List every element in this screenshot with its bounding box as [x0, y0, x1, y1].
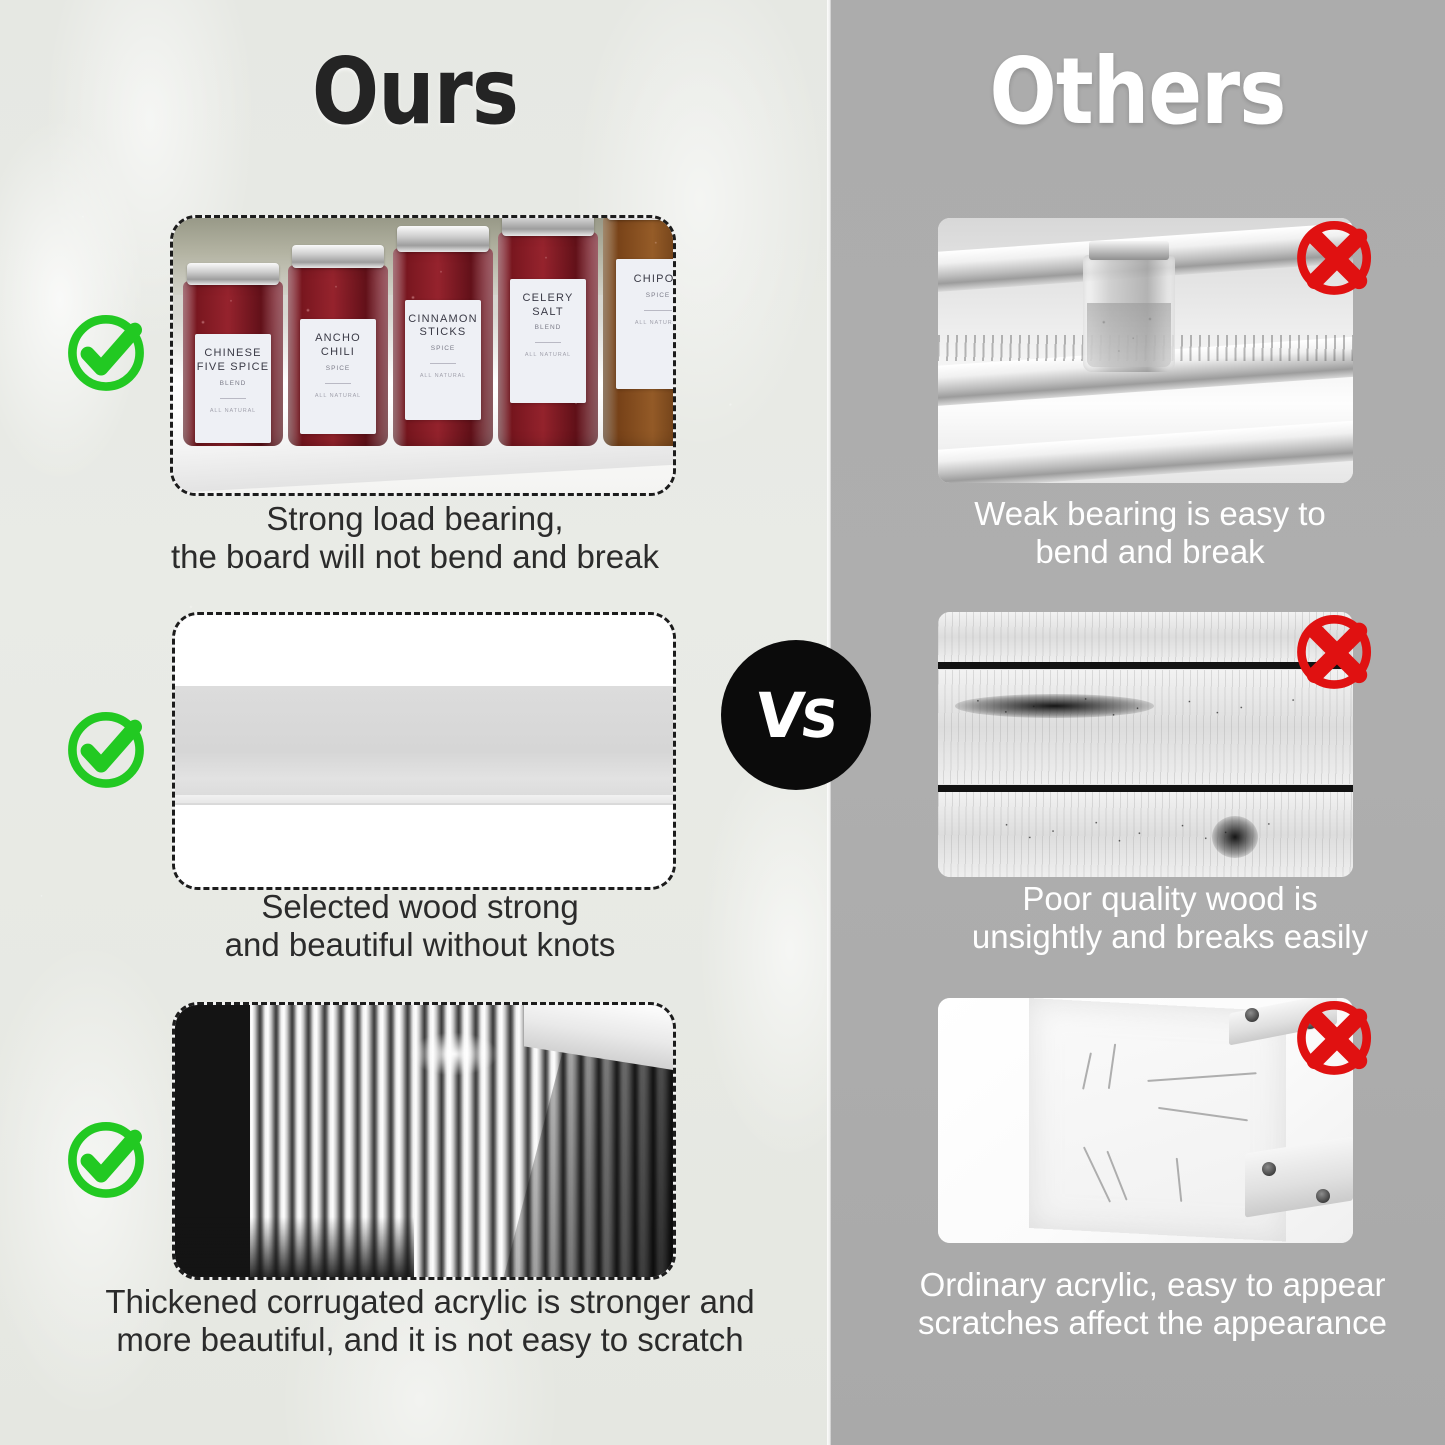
jar-label-line2: FIVE SPICE	[197, 361, 270, 373]
spice-jar: CHINESEFIVE SPICE BLEND ALL NATURAL	[183, 281, 283, 446]
scratch-line	[1176, 1158, 1183, 1202]
jars-scene: CHINESEFIVE SPICE BLEND ALL NATURAL ANCH…	[173, 218, 673, 493]
caption-line: Poor quality wood is	[920, 880, 1420, 918]
screw-icon	[1262, 1162, 1276, 1176]
page-title-others: Others	[873, 46, 1402, 138]
jar-label-footer: ALL NATURAL	[525, 352, 571, 358]
light-glint	[409, 1032, 499, 1076]
plank-gap	[938, 785, 1353, 792]
versus-s: S	[798, 690, 839, 750]
versus-badge: VS	[721, 640, 871, 790]
check-circle-icon	[58, 303, 154, 399]
scratch-line	[1108, 1044, 1116, 1090]
jar-label: ANCHOCHILI SPICE ALL NATURAL	[300, 319, 376, 434]
jar-label-line2: SALT	[532, 306, 564, 318]
caption-line: scratches affect the appearance	[880, 1304, 1425, 1342]
spice-jar: CINNAMONSTICKS SPICE ALL NATURAL	[393, 248, 493, 446]
jar-label-line1: ANCHO	[315, 332, 361, 344]
caption-line: and beautiful without knots	[120, 926, 720, 964]
jar-label-footer: ALL NATURAL	[315, 393, 361, 399]
jar-label-sub: SPICE	[431, 345, 456, 352]
x-circle-icon	[1288, 988, 1384, 1084]
jar-label: CINNAMONSTICKS SPICE ALL NATURAL	[405, 300, 481, 420]
caption-line: Thickened corrugated acrylic is stronger…	[50, 1283, 810, 1321]
comparison-infographic: Ours Others CHINESEFIVE SPICE BLEND ALL …	[0, 0, 1445, 1445]
jar-label-rule	[220, 398, 246, 399]
spice-jar: CHIPOT SPICE ALL NATURAL	[603, 215, 676, 446]
jar-label-line1: CHIPOT	[634, 273, 676, 285]
jar-label-line1: CELERY	[522, 292, 573, 304]
clean-wood-board-photo	[172, 612, 676, 890]
caption-line: Strong load bearing,	[90, 500, 740, 538]
spice-jar: CELERYSALT BLEND ALL NATURAL	[498, 232, 598, 447]
x-circle-icon	[1288, 208, 1384, 304]
jar-label-rule	[535, 342, 561, 343]
versus-v: V	[752, 679, 805, 752]
check-circle-icon	[58, 700, 154, 796]
x-circle-icon	[1288, 602, 1384, 698]
jar-label: CHINESEFIVE SPICE BLEND ALL NATURAL	[195, 334, 271, 443]
ours-caption-wood-quality: Selected wood strong and beautiful witho…	[120, 888, 720, 964]
caption-line: Selected wood strong	[120, 888, 720, 926]
floor-shadow	[175, 1217, 414, 1277]
jar-lid	[1089, 241, 1169, 260]
spice-jar: ANCHOCHILI SPICE ALL NATURAL	[288, 265, 388, 447]
screw-icon	[1316, 1189, 1330, 1203]
corrugated-acrylic-photo	[172, 1002, 676, 1280]
board-edge	[175, 795, 673, 803]
scratch-line	[1082, 1052, 1092, 1089]
wood-board-scene	[175, 615, 673, 887]
versus-label: VS	[752, 679, 839, 752]
screw-icon	[1245, 1008, 1259, 1022]
ours-caption-acrylic: Thickened corrugated acrylic is stronger…	[50, 1283, 810, 1359]
jar-label-footer: ALL NATURAL	[420, 373, 466, 379]
scratch-line	[1158, 1107, 1248, 1122]
jar-label-rule	[325, 383, 351, 384]
shelf-slat	[938, 419, 1353, 483]
jar-label-line1: CHINESE	[204, 347, 261, 359]
caption-line: unsightly and breaks easily	[920, 918, 1420, 956]
jar-label-line2: STICKS	[420, 326, 467, 338]
caption-line: Ordinary acrylic, easy to appear	[880, 1266, 1425, 1304]
jar-label-rule	[644, 310, 672, 311]
caption-line: Weak bearing is easy to	[900, 495, 1400, 533]
jar-label-sub: SPICE	[326, 365, 351, 372]
others-caption-bad-wood: Poor quality wood is unsightly and break…	[920, 880, 1420, 956]
ours-caption-load-bearing: Strong load bearing, the board will not …	[90, 500, 740, 576]
ours-photo-acrylic	[172, 1002, 670, 1274]
caption-line: the board will not bend and break	[90, 538, 740, 576]
ours-photo-load-bearing: CHINESEFIVE SPICE BLEND ALL NATURAL ANCH…	[170, 215, 670, 490]
jar-label: CHIPOT SPICE ALL NATURAL	[616, 259, 676, 389]
check-circle-icon	[58, 1110, 154, 1206]
jar-label-footer: ALL NATURAL	[635, 320, 676, 326]
jar-label-sub: SPICE	[646, 292, 671, 299]
spice-jars-photo: CHINESEFIVE SPICE BLEND ALL NATURAL ANCH…	[170, 215, 676, 496]
jar-contents	[1087, 303, 1171, 367]
jar-label-rule	[430, 363, 456, 364]
wood-speckles	[980, 808, 1312, 850]
page-title-ours: Ours	[58, 46, 772, 138]
jar-label-line1: CINNAMON	[408, 313, 478, 325]
corrugated-scene	[175, 1005, 673, 1277]
jar-label-footer: ALL NATURAL	[210, 408, 256, 414]
board-face	[175, 686, 673, 806]
caption-line: bend and break	[900, 533, 1400, 571]
wood-speckles	[946, 686, 1344, 723]
ours-photo-wood-quality	[172, 612, 670, 884]
jar-label-sub: BLEND	[220, 380, 247, 387]
others-caption-weak-bearing: Weak bearing is easy to bend and break	[900, 495, 1400, 571]
scratch-line	[1148, 1072, 1257, 1082]
jar-label: CELERYSALT BLEND ALL NATURAL	[510, 279, 586, 404]
others-caption-scratched-acrylic: Ordinary acrylic, easy to appear scratch…	[880, 1266, 1425, 1342]
jar-label-line2: CHILI	[321, 346, 355, 358]
jar-label-sub: BLEND	[535, 324, 562, 331]
caption-line: more beautiful, and it is not easy to sc…	[50, 1321, 810, 1359]
scratch-line	[1107, 1151, 1128, 1201]
glass-jar	[1083, 255, 1174, 372]
